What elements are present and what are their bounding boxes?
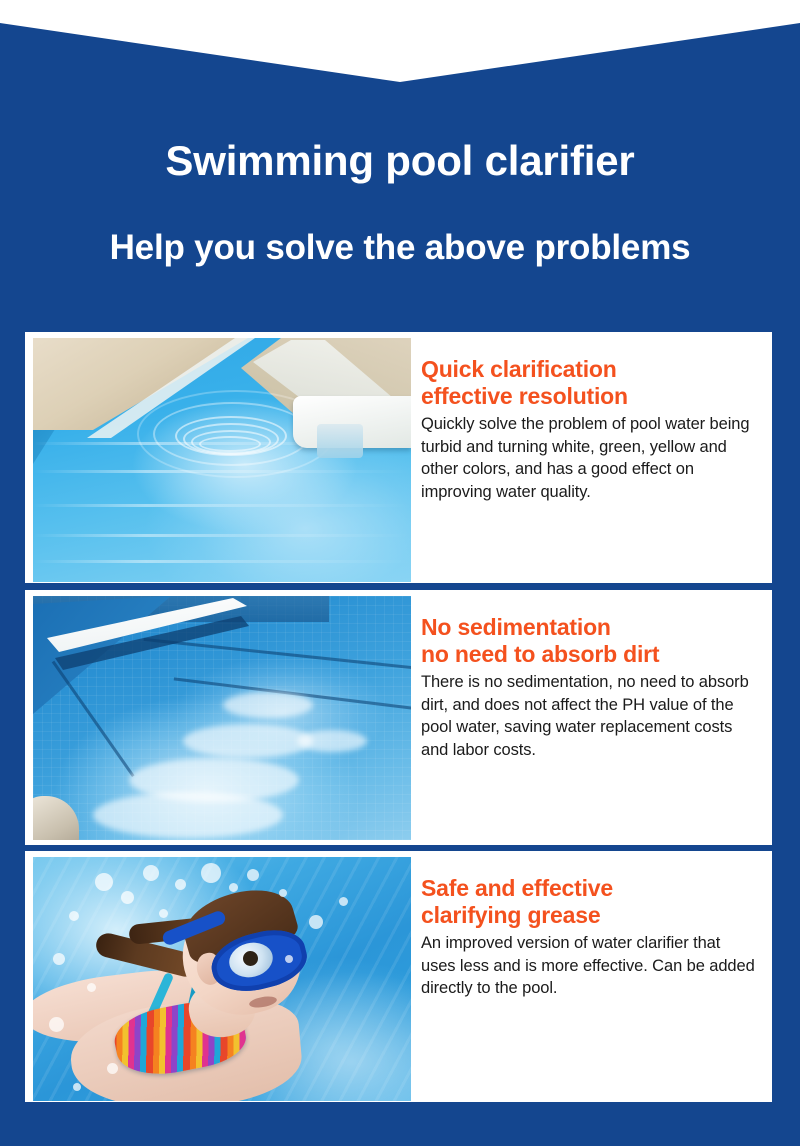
bubbles-overlay <box>33 857 411 1101</box>
page-subtitle: Help you solve the above problems <box>0 228 800 268</box>
feature-card-3-heading: Safe and effective clarifying grease <box>421 875 758 929</box>
feature-card-3-body: Safe and effective clarifying grease An … <box>411 851 772 1000</box>
feature-card-2-heading: No sedimentation no need to absorb dirt <box>421 614 758 668</box>
pool-ripples-image <box>33 338 411 582</box>
girl-swimming-image <box>33 857 411 1101</box>
feature-card-1[interactable]: Quick clarification effective resolution… <box>25 332 772 583</box>
feature-card-2-description: There is no sedimentation, no need to ab… <box>421 671 758 761</box>
feature-card-3-description: An improved version of water clarifier t… <box>421 932 758 1000</box>
feature-card-1-description: Quickly solve the problem of pool water … <box>421 413 758 503</box>
feature-card-2[interactable]: No sedimentation no need to absorb dirt … <box>25 590 772 845</box>
feature-card-1-body: Quick clarification effective resolution… <box>411 332 772 504</box>
tiled-pool-corner-image <box>33 596 411 840</box>
feature-card-3[interactable]: Safe and effective clarifying grease An … <box>25 851 772 1102</box>
feature-card-2-body: No sedimentation no need to absorb dirt … <box>411 590 772 762</box>
page-title: Swimming pool clarifier <box>0 137 800 185</box>
feature-card-1-heading: Quick clarification effective resolution <box>421 356 758 410</box>
poster-page: Swimming pool clarifier Help you solve t… <box>0 0 800 1146</box>
